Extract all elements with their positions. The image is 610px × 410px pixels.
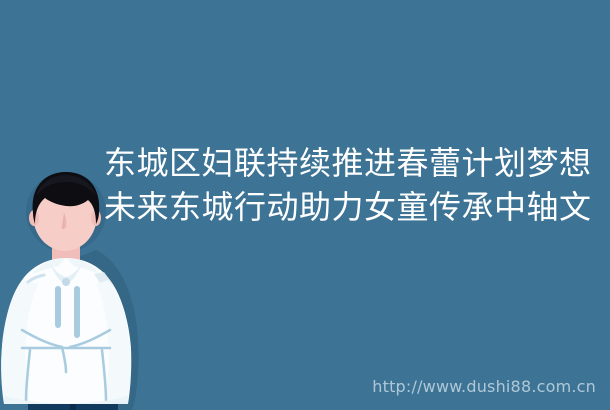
headline-text: 东城区妇联持续推进春蕾计划梦想未来东城行动助力女童传承中轴文 xyxy=(104,141,604,229)
promo-banner: 东城区妇联持续推进春蕾计划梦想未来东城行动助力女童传承中轴文 http://ww… xyxy=(0,0,610,410)
watermark-url: http://www.dushi88.com.cn xyxy=(372,377,596,396)
